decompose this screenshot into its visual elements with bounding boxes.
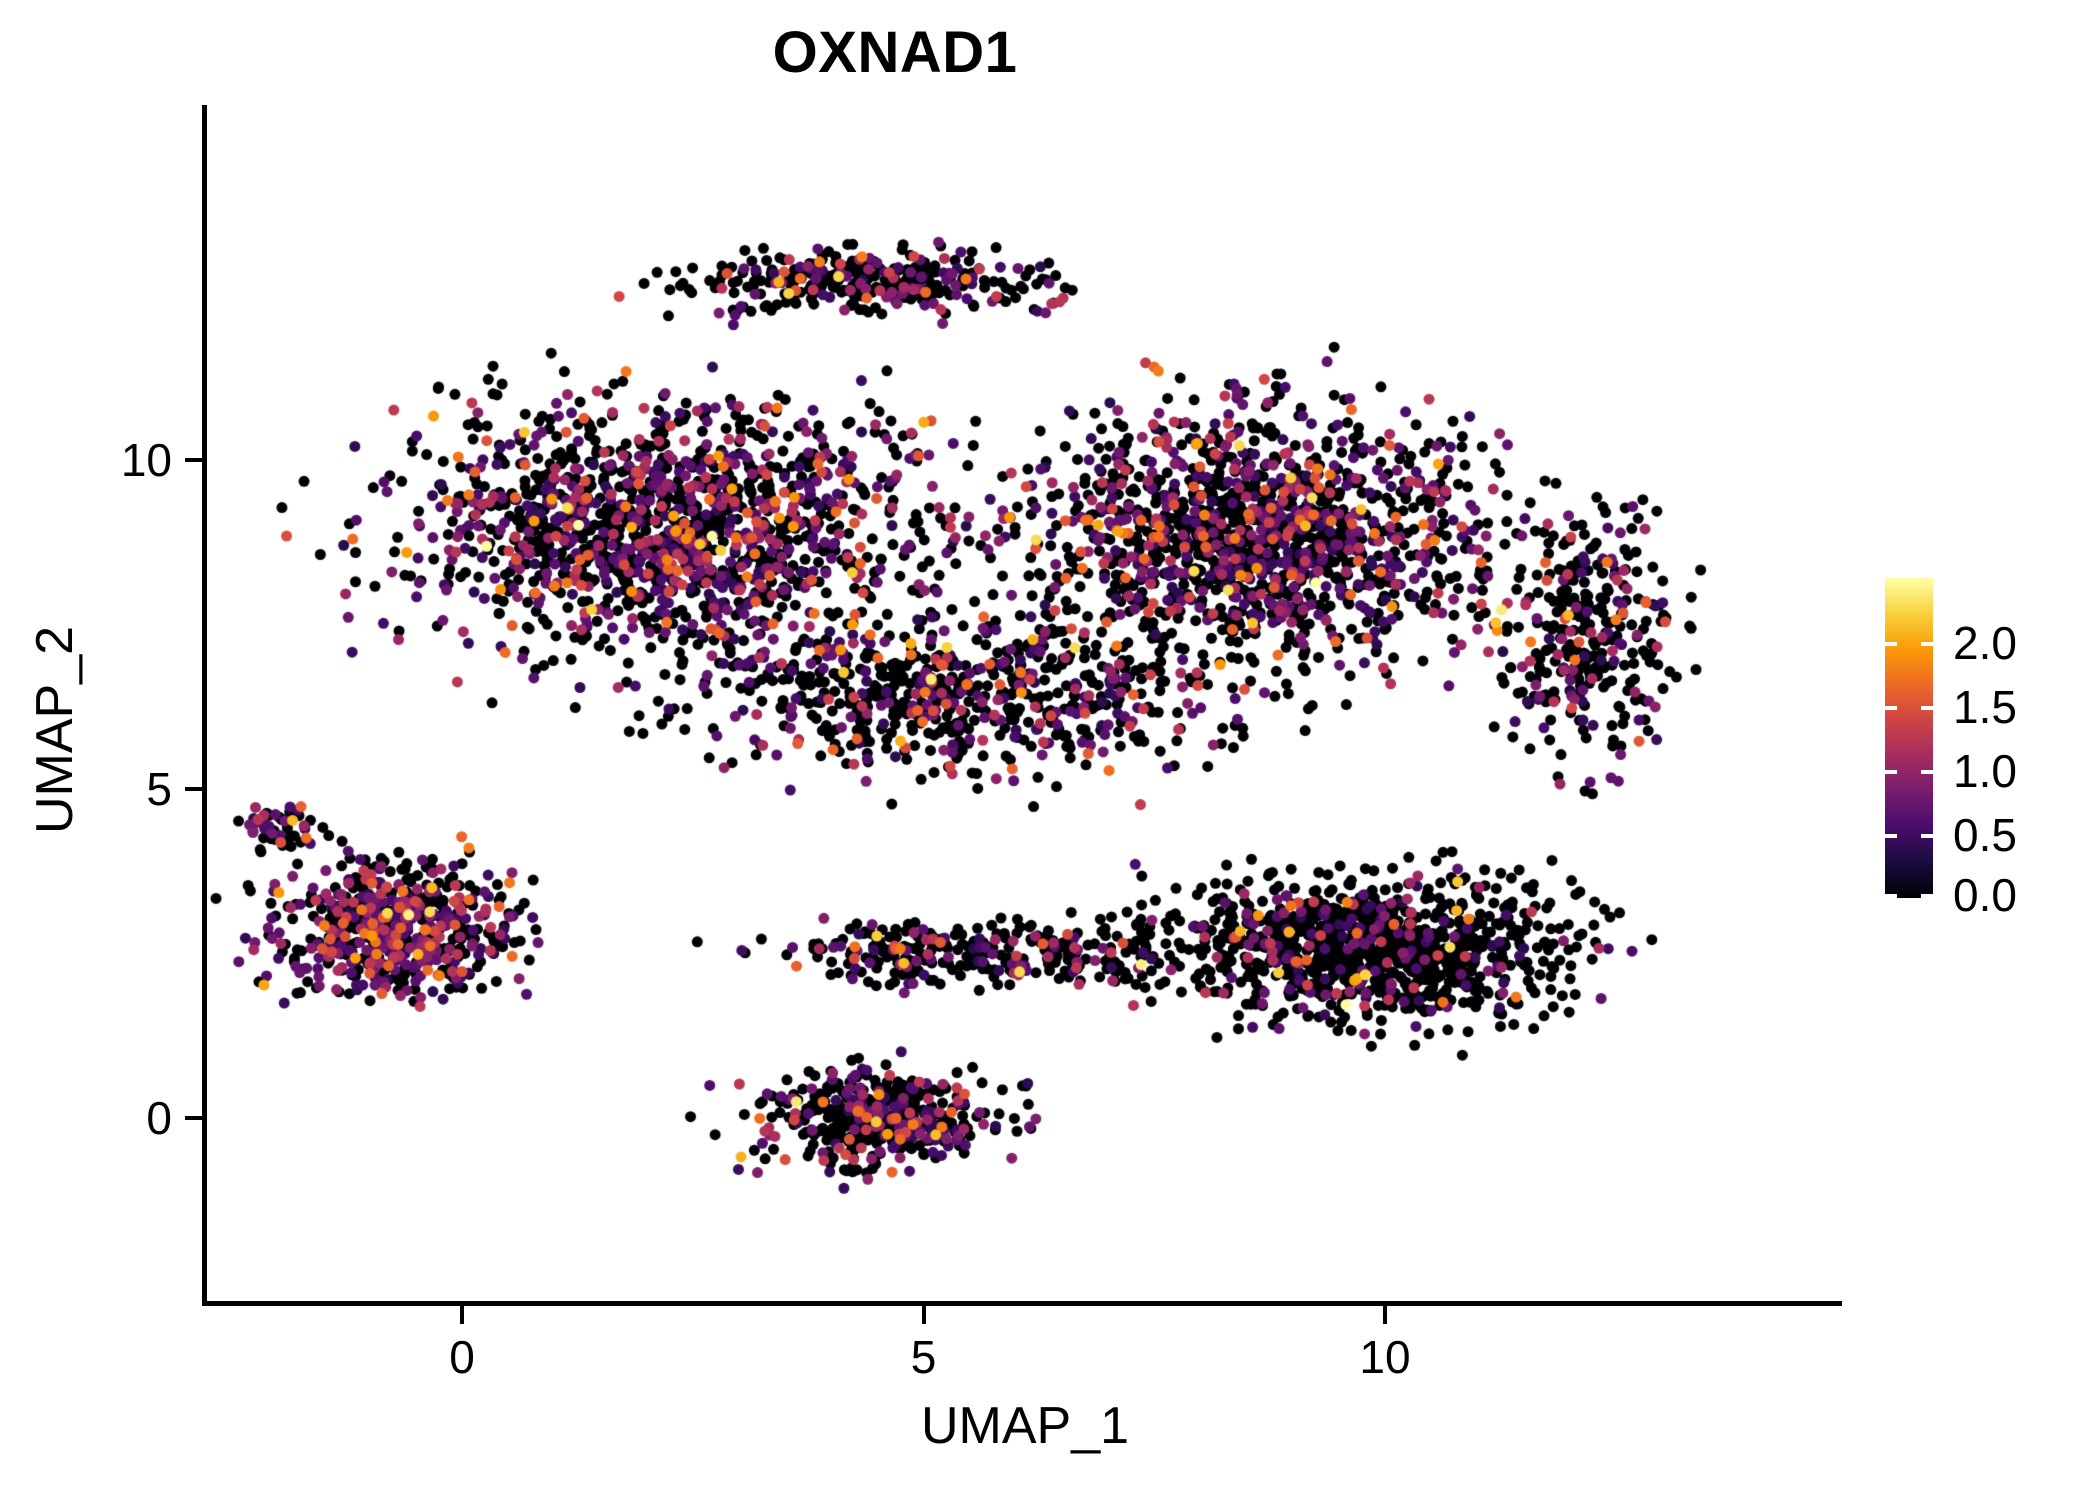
scatter-plot-canvas xyxy=(0,0,2100,1500)
x-tick-label: 10 xyxy=(1285,1334,1485,1380)
colorbar-tick-mark xyxy=(1885,834,1897,838)
x-tick-mark xyxy=(1383,1306,1387,1324)
y-tick-label: 10 xyxy=(0,437,172,483)
x-axis-title: UMAP_1 xyxy=(205,1400,1845,1452)
x-axis-line xyxy=(202,1301,1842,1306)
x-tick-label: 0 xyxy=(362,1334,562,1380)
x-tick-label: 5 xyxy=(824,1334,1024,1380)
colorbar-tick-label: 2.0 xyxy=(1953,620,2017,666)
y-axis-line xyxy=(202,105,207,1306)
colorbar-tick-mark xyxy=(1885,706,1897,710)
colorbar-tick-mark xyxy=(1921,770,1933,774)
x-tick-mark xyxy=(460,1306,464,1324)
y-tick-mark xyxy=(185,458,203,462)
colorbar-tick-mark xyxy=(1885,770,1897,774)
y-tick-mark xyxy=(185,787,203,791)
x-tick-mark xyxy=(922,1306,926,1324)
colorbar-gradient xyxy=(1885,578,1933,898)
color-legend: 0.00.51.01.52.0 xyxy=(1885,578,2085,898)
colorbar-tick-label: 1.0 xyxy=(1953,748,2017,794)
y-axis-title: UMAP_2 xyxy=(29,430,81,1030)
y-tick-mark xyxy=(185,1116,203,1120)
colorbar-tick-label: 0.5 xyxy=(1953,812,2017,858)
colorbar-tick-label: 0.0 xyxy=(1953,872,2017,918)
colorbar-tick-label: 1.5 xyxy=(1953,684,2017,730)
colorbar-tick-mark xyxy=(1921,894,1933,898)
colorbar-tick-mark xyxy=(1885,894,1897,898)
colorbar-tick-mark xyxy=(1921,706,1933,710)
umap-feature-plot: OXNAD1 05100510 UMAP_1 UMAP_2 0.00.51.01… xyxy=(0,0,2100,1500)
colorbar-tick-mark xyxy=(1921,834,1933,838)
y-tick-label: 0 xyxy=(0,1095,172,1141)
colorbar-tick-mark xyxy=(1885,642,1897,646)
colorbar-tick-mark xyxy=(1921,642,1933,646)
